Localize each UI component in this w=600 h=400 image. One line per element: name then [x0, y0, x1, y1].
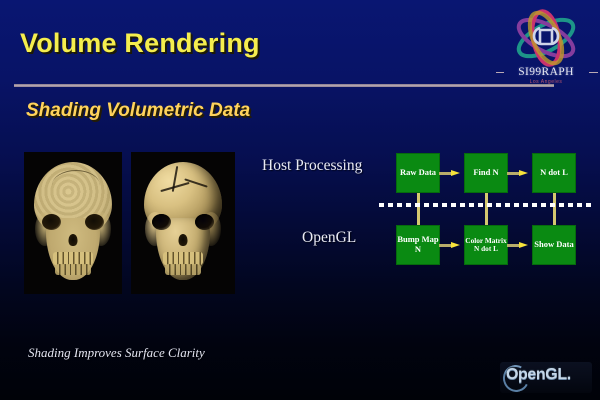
slide-canvas: Volume Rendering Shading Volumetric Data	[0, 0, 600, 400]
flow-box-show-data[interactable]: Show Data	[532, 225, 576, 265]
stage-label-host-processing: Host Processing	[262, 157, 362, 175]
skull-nasal-cavity	[69, 234, 78, 246]
arrow-head-right-icon	[451, 170, 460, 176]
siggraph-rings-icon	[506, 8, 586, 68]
arrow-head-right-icon	[519, 170, 528, 176]
skull-eye-socket-left	[152, 214, 171, 230]
skull-eye-socket-right	[85, 214, 104, 230]
flow-box-find-n[interactable]: Find N	[464, 153, 508, 193]
title-divider-rule	[14, 84, 554, 87]
slide-caption: Shading Improves Surface Clarity	[28, 345, 205, 361]
opengl-wordmark: OpenGL.	[506, 366, 571, 384]
page-title: Volume Rendering	[20, 28, 260, 59]
flow-box-bump-map-n[interactable]: Bump Map N	[396, 225, 440, 265]
stage-label-opengl: OpenGL	[302, 229, 356, 247]
skull-suture-line	[52, 170, 100, 201]
flow-box-color-matrix-n-dot-l[interactable]: Color Matrix N dot L	[464, 225, 508, 265]
skull-lower-teeth	[55, 264, 91, 275]
opengl-logo: OpenGL.	[500, 362, 592, 393]
skull-lower-teeth	[165, 264, 201, 275]
arrow-head-right-icon	[519, 242, 528, 248]
unshaded-volume-skull-image	[24, 152, 122, 294]
siggraph-logo: SI99RAPH Los Angeles	[500, 8, 592, 94]
skull-nasal-cavity	[179, 234, 188, 246]
skull-render-shaded	[139, 160, 227, 286]
flow-box-n-dot-l[interactable]: N dot L	[532, 153, 576, 193]
skull-eye-socket-right	[195, 214, 214, 230]
siggraph-city-label: Los Angeles	[500, 79, 592, 85]
host-opengl-boundary-divider	[379, 203, 592, 207]
siggraph-rule-right	[589, 72, 598, 73]
flow-box-raw-data[interactable]: Raw Data	[396, 153, 440, 193]
arrow-head-right-icon	[451, 242, 460, 248]
skull-render-unshaded	[29, 160, 117, 286]
slide-subtitle: Shading Volumetric Data	[26, 100, 250, 122]
shaded-volume-skull-image	[131, 152, 235, 294]
siggraph-rule-left	[496, 72, 504, 73]
siggraph-wordmark: SI99RAPH	[500, 66, 592, 78]
skull-eye-socket-left	[42, 214, 61, 230]
